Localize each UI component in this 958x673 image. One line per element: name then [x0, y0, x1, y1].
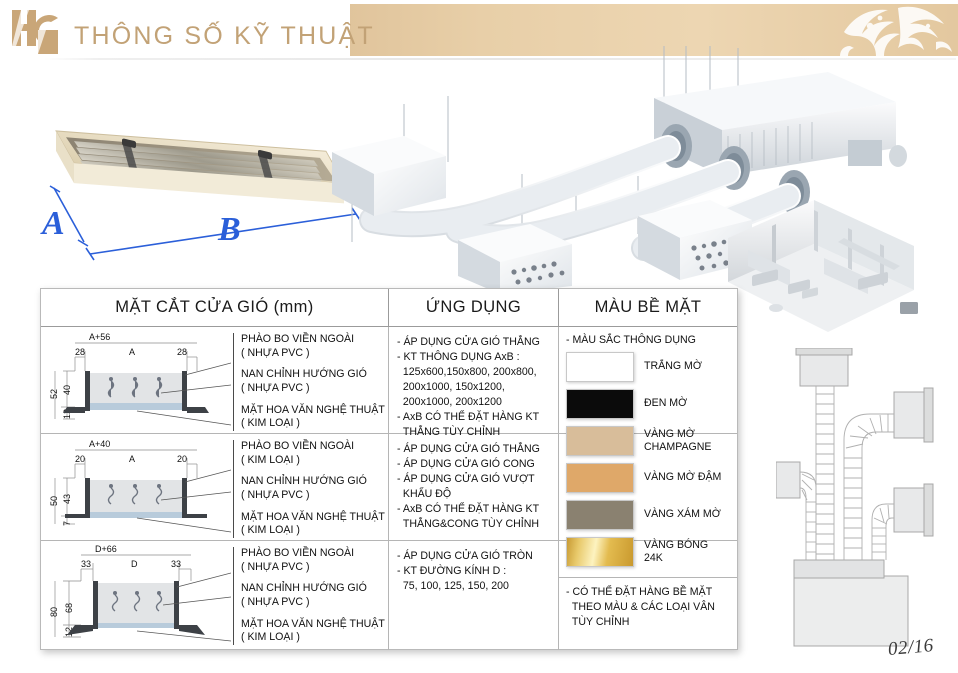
swatch-label: VÀNG MỜ CHAMPAGNE [644, 428, 712, 454]
swatch-trang-mo [566, 352, 634, 382]
swatch-den-mo [566, 389, 634, 419]
dim-overall-3: D+66 [95, 544, 117, 554]
dim-right-2: 20 [177, 454, 187, 464]
color-swatch-item: VÀNG XÁM MỜ [559, 500, 737, 537]
dim-height-2: 50 [49, 496, 59, 506]
dim-body-3: 68 [64, 603, 74, 613]
dim-center-3: D [131, 559, 138, 569]
column-header-surface-color: MÀU BỀ MẶT [559, 289, 737, 326]
specification-table: MẶT CẮT CỬA GIÓ (mm) ỨNG DỤNG MÀU BỀ MẶT [40, 288, 738, 650]
dimension-label-a: A [40, 205, 65, 242]
cross-section-drawing-1: A+56 28 A 28 52 40 12 [45, 327, 231, 433]
callout-item: NAN CHỈNH HƯỚNG GIÓ ( NHỰA PVC ) [241, 582, 387, 609]
hg-monogram-logo [8, 6, 64, 58]
callout-item: MẶT HOA VĂN NGHỆ THUẬT ( KIM LOẠI ) [241, 404, 387, 431]
callout-item: PHÀO BO VIỀN NGOÀI ( NHỰA PVC ) [241, 547, 387, 574]
swatch-label: VÀNG XÁM MỜ [644, 508, 721, 521]
callout-list-1: PHÀO BO VIỀN NGOÀI ( NHỰA PVC ) NAN CHỈN… [233, 333, 387, 431]
callout-item: PHÀO BO VIỀN NGOÀI ( NHỰA PVC ) [241, 333, 387, 360]
dim-left-1: 28 [75, 347, 85, 357]
swatch-label: VÀNG MỜ ĐẬM [644, 471, 721, 484]
application-cell-3: - ÁP DỤNG CỬA GIÓ TRÒN - KT ĐƯỜNG KÍNH D… [389, 541, 559, 650]
swatch-label: TRẮNG MỜ [644, 360, 702, 373]
color-swatch-item: VÀNG MỜ ĐẬM [559, 463, 737, 500]
swatch-vang-mo-dam [566, 463, 634, 493]
callout-item: MẶT HOA VĂN NGHỆ THUẬT ( KIM LOẠI ) [241, 511, 387, 538]
application-cell-2: - ÁP DỤNG CỬA GIÓ THẲNG - ÁP DỤNG CỬA GI… [389, 434, 559, 540]
callout-list-2: PHÀO BO VIỀN NGOÀI ( KIM LOẠI ) NAN CHỈN… [233, 440, 387, 538]
apartment-floorplan-render [718, 190, 958, 340]
cross-section-cell-2: A+40 20 A 20 50 43 7 [41, 434, 389, 540]
dim-flange-2: 7 [62, 521, 72, 526]
callout-item: PHÀO BO VIỀN NGOÀI ( KIM LOẠI ) [241, 440, 387, 467]
dim-center-1: A [129, 347, 135, 357]
callout-item: NAN CHỈNH HƯỚNG GIÓ ( NHỰA PVC ) [241, 368, 387, 395]
callout-item: MẶT HOA VĂN NGHỆ THUẬT ( KIM LOẠI ) [241, 618, 387, 645]
dimension-label-b: B [217, 211, 241, 248]
swatch-vang-xam-mo [566, 500, 634, 530]
color-swatch-item: TRẮNG MỜ [559, 352, 737, 389]
dim-overall-1: A+56 [89, 332, 110, 342]
callout-item: NAN CHỈNH HƯỚNG GIÓ ( NHỰA PVC ) [241, 475, 387, 502]
cross-section-cell-3: D+66 33 D 33 80 68 12 [41, 541, 389, 650]
color-swatch-item: VÀNG BÓNG 24K [559, 537, 737, 574]
callout-list-3: PHÀO BO VIỀN NGOÀI ( NHỰA PVC ) NAN CHỈN… [233, 547, 387, 645]
dim-overall-2: A+40 [89, 439, 110, 449]
duct-riser-line-diagram [776, 348, 958, 654]
swatch-vang-mo-champagne [566, 426, 634, 456]
cross-section-drawing-3: D+66 33 D 33 80 68 12 [45, 541, 231, 650]
swatch-vang-bong-24k [566, 537, 634, 567]
dim-right-1: 28 [177, 347, 187, 357]
color-swatch-item: ĐEN MỜ [559, 389, 737, 426]
dim-height-1: 52 [49, 389, 59, 399]
dim-left-3: 33 [81, 559, 91, 569]
dim-height-3: 80 [49, 607, 59, 617]
dim-center-2: A [129, 454, 135, 464]
swatch-label: VÀNG BÓNG 24K [644, 539, 708, 565]
swatch-label: ĐEN MỜ [644, 397, 687, 410]
table-header-row: MẶT CẮT CỬA GIÓ (mm) ỨNG DỤNG MÀU BỀ MẶT [41, 289, 737, 327]
surface-color-column: - MÀU SẮC THÔNG DỤNG TRẮNG MỜ ĐEN MỜ VÀN… [559, 327, 737, 650]
color-section-heading: - MÀU SẮC THÔNG DỤNG [559, 334, 737, 352]
cross-section-cell-1: A+56 28 A 28 52 40 12 [41, 327, 389, 433]
dim-body-1: 40 [62, 385, 72, 395]
column-header-application: ỨNG DỤNG [389, 289, 559, 326]
application-cell-1: - ÁP DỤNG CỬA GIÓ THẲNG - KT THÔNG DỤNG … [389, 327, 559, 433]
dim-left-2: 20 [75, 454, 85, 464]
page-number: 02/16 [887, 635, 935, 661]
dim-body-2: 43 [62, 494, 72, 504]
column-header-section: MẶT CẮT CỬA GIÓ (mm) [41, 289, 389, 326]
cross-section-drawing-2: A+40 20 A 20 50 43 7 [45, 434, 231, 540]
color-swatch-item: VÀNG MỜ CHAMPAGNE [559, 426, 737, 463]
dim-right-3: 33 [171, 559, 181, 569]
color-custom-note: - CÓ THỂ ĐẶT HÀNG BỀ MẶT THEO MÀU & CÁC … [559, 577, 737, 630]
